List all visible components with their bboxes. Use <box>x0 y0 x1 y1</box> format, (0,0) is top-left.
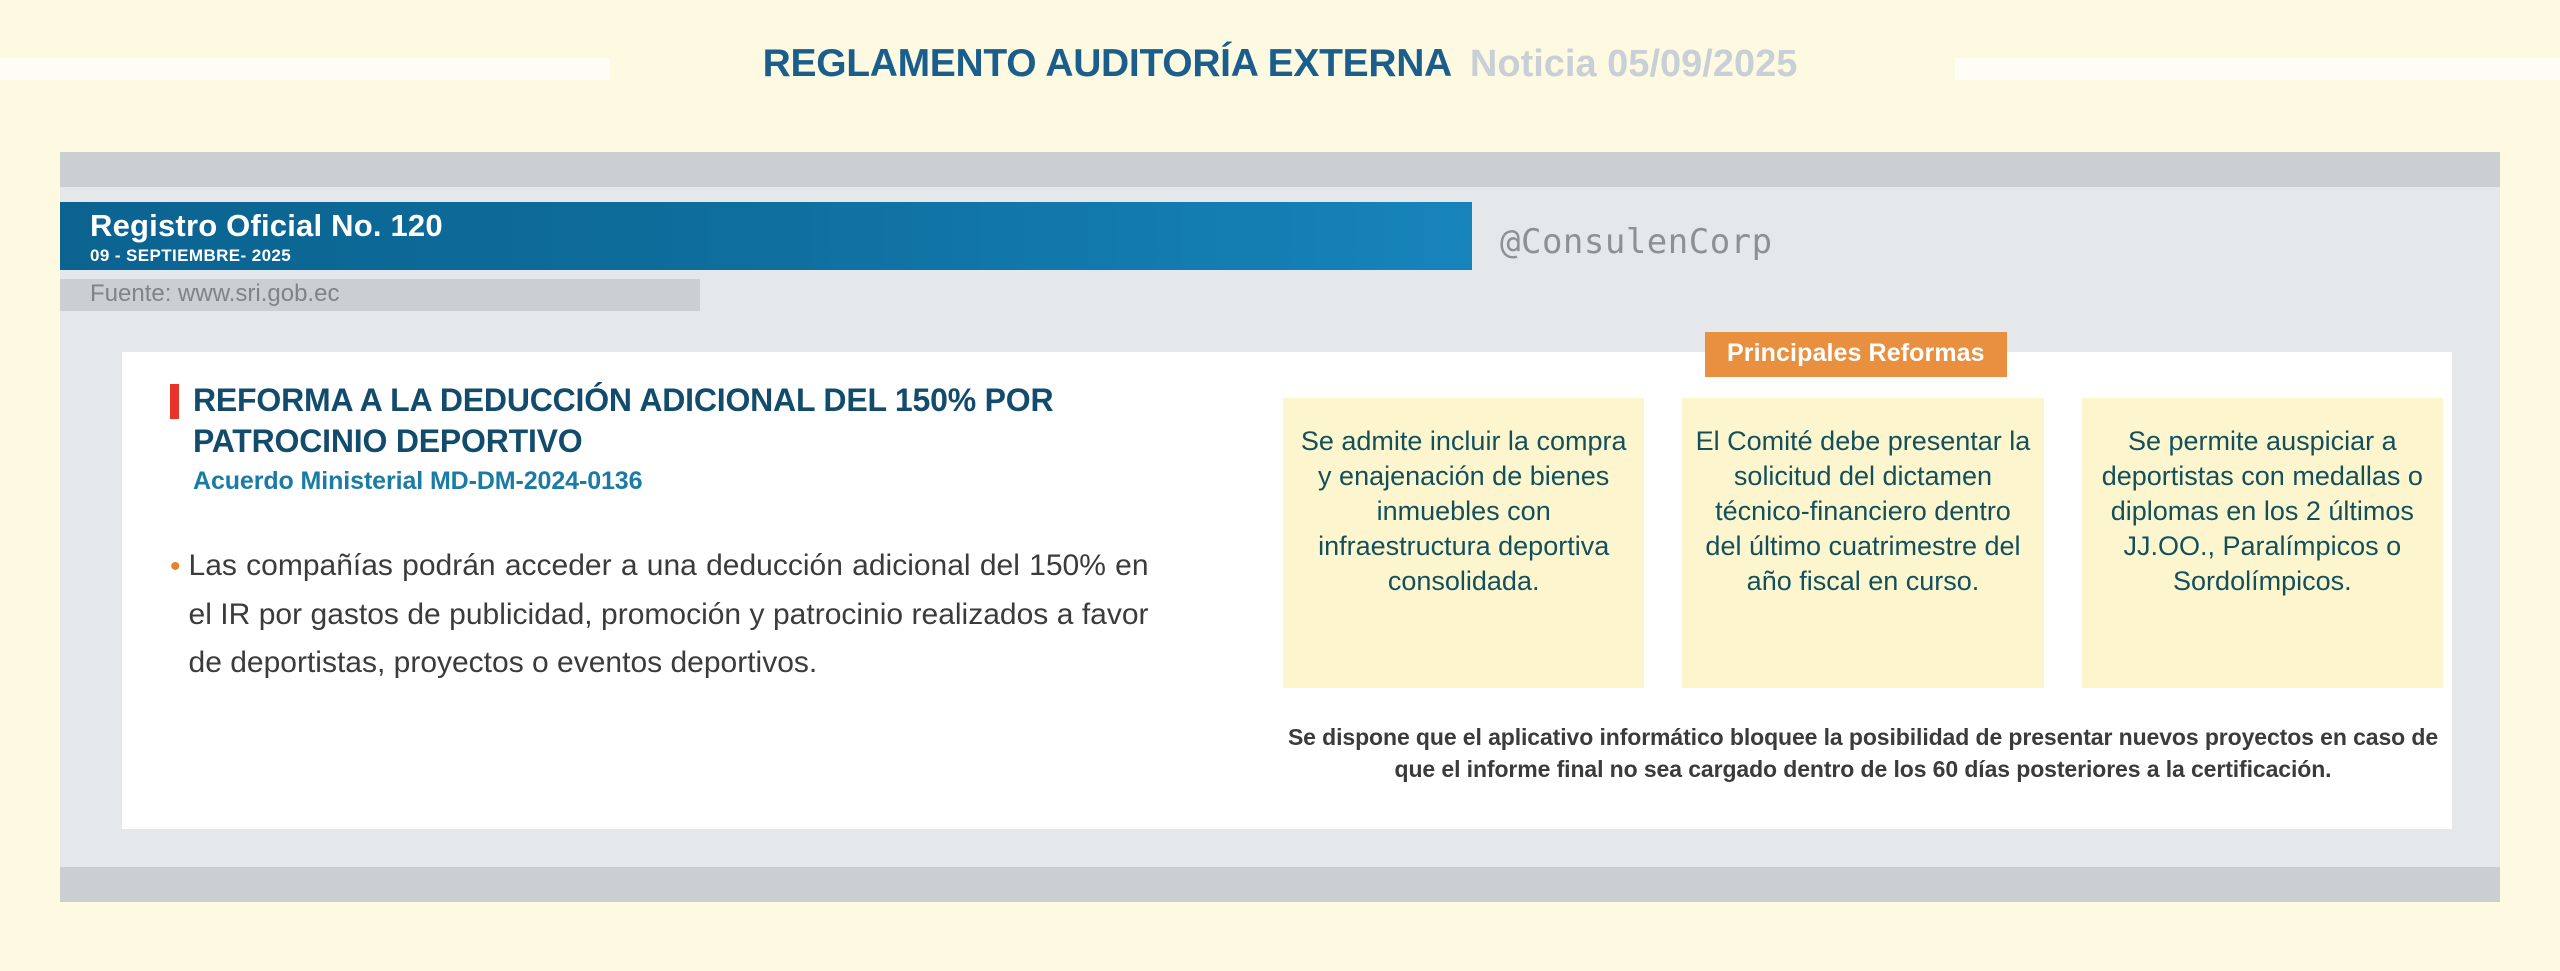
red-accent-bar-icon <box>170 384 179 419</box>
reform-title: REFORMA A LA DEDUCCIÓN ADICIONAL DEL 150… <box>193 380 1180 462</box>
page-subtitle-date: Noticia 05/09/2025 <box>1470 43 1797 85</box>
registro-oficial-banner: Registro Oficial No. 120 09 - SEPTIEMBRE… <box>60 202 1472 270</box>
reform-card-text: Se permite auspiciar a deportistas con m… <box>2094 424 2431 599</box>
reform-cards-row: Se admite incluir la compra y enajenació… <box>1283 398 2443 688</box>
registro-oficial-date: 09 - SEPTIEMBRE- 2025 <box>90 246 1472 266</box>
watermark-handle: @ConsulenCorp <box>1500 222 1773 262</box>
reform-card-text: El Comité debe presentar la solicitud de… <box>1694 424 2031 599</box>
reform-subtitle: Acuerdo Ministerial MD-DM-2024-0136 <box>193 467 1180 496</box>
reform-card-text: Se admite incluir la compra y enajenació… <box>1295 424 1632 599</box>
reform-card: Se permite auspiciar a deportistas con m… <box>2082 398 2443 688</box>
reform-card: Se admite incluir la compra y enajenació… <box>1283 398 1644 688</box>
registro-oficial-title: Registro Oficial No. 120 <box>90 210 1472 243</box>
reform-body-row: • Las compañías podrán acceder a una ded… <box>170 542 1180 688</box>
page-title: REGLAMENTO AUDITORÍA EXTERNA <box>763 42 1452 85</box>
left-content-column: REFORMA A LA DEDUCCIÓN ADICIONAL DEL 150… <box>170 380 1180 688</box>
reform-card: El Comité debe presentar la solicitud de… <box>1682 398 2043 688</box>
reform-title-row: REFORMA A LA DEDUCCIÓN ADICIONAL DEL 150… <box>170 380 1180 462</box>
header-title-block: REGLAMENTO AUDITORÍA EXTERNANoticia 05/0… <box>0 42 2560 86</box>
principales-reformas-badge: Principales Reformas <box>1705 332 2007 377</box>
page-header: REGLAMENTO AUDITORÍA EXTERNANoticia 05/0… <box>0 0 2560 152</box>
reforms-footer-note: Se dispone que el aplicativo informático… <box>1283 722 2443 785</box>
source-bar: Fuente: www.sri.gob.ec <box>60 279 700 311</box>
reform-body-text: Las compañías podrán acceder a una deduc… <box>189 542 1149 688</box>
bullet-dot-icon: • <box>170 552 181 688</box>
